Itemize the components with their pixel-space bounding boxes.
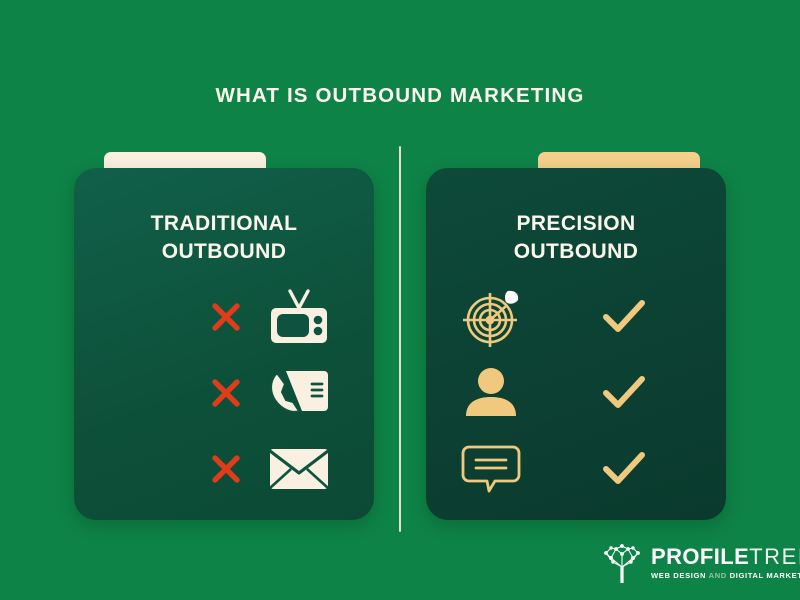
left-card-title-line1: TRADITIONAL	[151, 212, 298, 235]
telephone-icon	[268, 367, 330, 419]
logo-tagline-and: AND	[709, 571, 727, 580]
page-title: WHAT IS OUTBOUND MARKETING	[0, 84, 800, 108]
target-radar-icon-cell	[454, 287, 532, 347]
logo-tagline-part1: WEB DESIGN	[651, 571, 706, 580]
network-tree-icon	[600, 541, 644, 585]
check-mark-icon	[601, 373, 647, 413]
cross-mark-icon	[210, 453, 242, 485]
list-item	[426, 438, 726, 500]
tv-icon-cell	[260, 288, 338, 346]
speech-bubble-icon-cell	[454, 443, 532, 495]
check-mark-cell	[590, 373, 658, 413]
traditional-outbound-card[interactable]: TRADITIONAL OUTBOUND	[74, 168, 374, 520]
precision-outbound-card[interactable]: PRECISION OUTBOUND	[426, 168, 726, 520]
list-item	[426, 362, 726, 424]
list-item	[74, 286, 374, 348]
envelope-icon-cell	[260, 446, 338, 492]
list-item	[74, 438, 374, 500]
right-card-rows	[426, 286, 726, 514]
check-mark-icon	[601, 449, 647, 489]
logo-wordmark: PROFILETREE	[651, 546, 800, 568]
tv-icon	[268, 288, 330, 346]
target-radar-icon	[461, 287, 525, 347]
user-person-icon-cell	[454, 366, 532, 420]
left-card-title-line2: OUTBOUND	[162, 240, 287, 263]
vertical-divider	[399, 146, 401, 532]
cross-mark-cell	[192, 377, 260, 409]
speech-bubble-icon	[461, 443, 525, 495]
logo-tagline-part2: DIGITAL MARKETING	[730, 571, 800, 580]
left-card-rows	[74, 286, 374, 514]
left-card-title: TRADITIONAL OUTBOUND	[74, 210, 374, 266]
telephone-icon-cell	[260, 367, 338, 419]
cross-mark-cell	[192, 301, 260, 333]
logo-word-tree: TREE	[749, 544, 800, 569]
right-card-title-line2: OUTBOUND	[514, 240, 639, 263]
check-mark-cell	[590, 297, 658, 337]
slide-canvas: WHAT IS OUTBOUND MARKETING TRADITIONAL O…	[0, 0, 800, 600]
check-mark-cell	[590, 449, 658, 489]
logo-tagline: WEB DESIGN AND DIGITAL MARKETING	[651, 572, 800, 580]
profiletree-logo[interactable]: PROFILETREE WEB DESIGN AND DIGITAL MARKE…	[600, 541, 800, 585]
right-card-title-line1: PRECISION	[516, 212, 635, 235]
right-card-title: PRECISION OUTBOUND	[426, 210, 726, 266]
logo-text-block: PROFILETREE WEB DESIGN AND DIGITAL MARKE…	[651, 546, 800, 580]
user-person-icon	[461, 366, 525, 420]
envelope-icon	[268, 446, 330, 492]
list-item	[74, 362, 374, 424]
cross-mark-icon	[210, 377, 242, 409]
list-item	[426, 286, 726, 348]
cross-mark-cell	[192, 453, 260, 485]
check-mark-icon	[601, 297, 647, 337]
logo-word-profile: PROFILE	[651, 544, 749, 569]
cross-mark-icon	[210, 301, 242, 333]
